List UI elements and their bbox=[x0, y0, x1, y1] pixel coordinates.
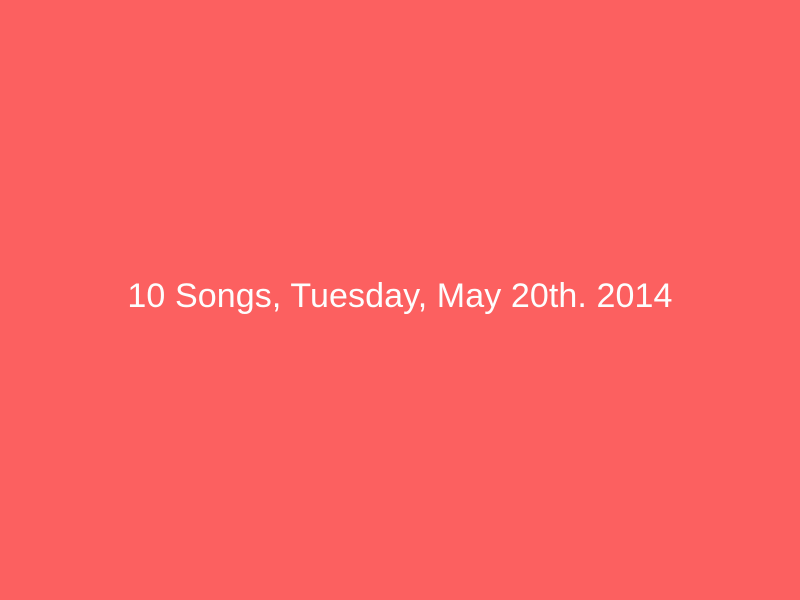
slide-canvas: 10 Songs, Tuesday, May 20th. 2014 bbox=[0, 0, 800, 600]
caption-block: 10 Songs, Tuesday, May 20th. 2014 bbox=[0, 276, 800, 316]
slide-title: 10 Songs, Tuesday, May 20th. 2014 bbox=[127, 276, 672, 316]
